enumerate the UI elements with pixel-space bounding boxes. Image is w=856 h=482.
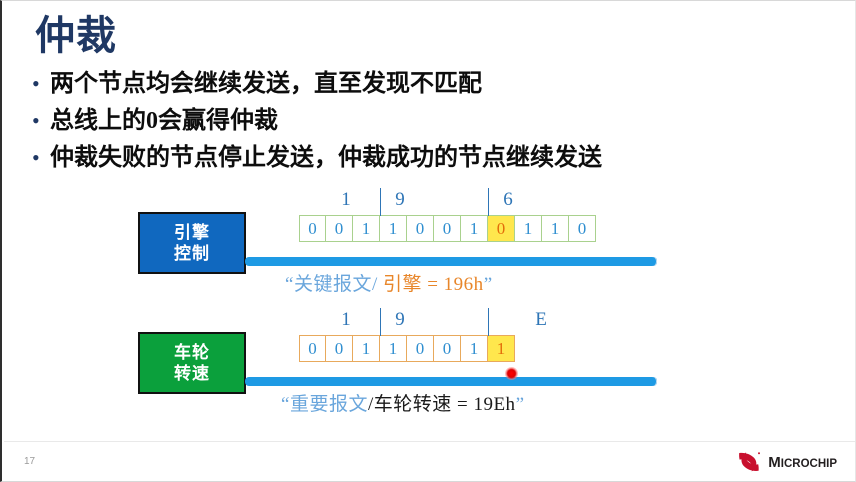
list-item: • 总线上的0会赢得仲裁 [32, 106, 822, 137]
slide-canvas: 仲裁 • 两个节点均会继续发送，直至发现不匹配 • 总线上的0会赢得仲裁 • 仲… [0, 0, 856, 482]
node-label-line2: 控制 [174, 243, 210, 264]
bullet-dot-icon: • [32, 69, 50, 99]
caption-open-quote: “ [281, 394, 290, 415]
nibble-separator-engine-2 [488, 188, 489, 216]
engine-bit-3: 1 [380, 215, 407, 242]
wheel-bit-6: 1 [461, 335, 488, 362]
caption-close-quote: ” [484, 274, 493, 295]
node-label-line1: 引擎 [174, 222, 210, 243]
bit-sequence-wheel-speed: 00110011 [299, 335, 515, 362]
engine-bit-2: 1 [353, 215, 380, 242]
caption-accent-part: /车轮转速 = 19Eh [368, 394, 516, 415]
bus-line-wheel-speed [245, 377, 657, 386]
node-box-engine: 引擎 控制 [138, 212, 246, 274]
nibble-separator-wheel-1 [380, 308, 381, 336]
bullet-text: 两个节点均会继续发送，直至发现不匹配 [50, 69, 482, 100]
wheel-bit-1: 0 [326, 335, 353, 362]
microchip-mark-icon [736, 449, 762, 475]
microchip-wordmark: MICROCHIP [768, 454, 837, 471]
nibble-separator-wheel-2 [488, 308, 489, 336]
list-item: • 仲裁失败的节点停止发送，仲裁成功的节点继续发送 [32, 143, 822, 174]
engine-bit-6: 1 [461, 215, 488, 242]
slide-number: 17 [24, 456, 35, 467]
node-label-line1: 车轮 [174, 342, 210, 363]
footer-divider [4, 441, 856, 442]
engine-bit-9: 1 [542, 215, 569, 242]
hex-label-engine-1: 9 [385, 189, 415, 211]
bus-line-engine [245, 257, 657, 266]
wheel-bit-0: 0 [299, 335, 326, 362]
hex-label-engine-2: 6 [493, 189, 523, 211]
bullet-dot-icon: • [32, 143, 50, 173]
hex-label-wheel-2: E [526, 309, 556, 331]
bullet-list: • 两个节点均会继续发送，直至发现不匹配 • 总线上的0会赢得仲裁 • 仲裁失败… [32, 69, 822, 180]
caption-engine: “关键报文/ 引擎 = 196h” [285, 269, 493, 296]
collision-marker-icon [505, 367, 518, 380]
bus-line-wheel-speed-endcap [652, 377, 657, 386]
caption-accent-part: 引擎 = 196h [383, 274, 484, 295]
bit-sequence-engine: 00110010110 [299, 215, 596, 242]
caption-blue-part: 重要报文 [290, 394, 368, 415]
list-item: • 两个节点均会继续发送，直至发现不匹配 [32, 69, 822, 100]
nibble-separator-engine-1 [380, 188, 381, 216]
engine-bit-5: 0 [434, 215, 461, 242]
bullet-dot-icon: • [32, 106, 50, 136]
engine-bit-8: 1 [515, 215, 542, 242]
engine-bit-4: 0 [407, 215, 434, 242]
hex-label-wheel-0: 1 [331, 309, 361, 331]
caption-open-quote: “ [285, 274, 294, 295]
bullet-text: 仲裁失败的节点停止发送，仲裁成功的节点继续发送 [50, 143, 602, 174]
caption-wheel-speed: “重要报文/车轮转速 = 19Eh” [281, 389, 525, 416]
page-title: 仲裁 [35, 15, 117, 57]
wheel-bit-3: 1 [380, 335, 407, 362]
caption-blue-part: 关键报文/ [294, 274, 383, 295]
wheel-bit-2: 1 [353, 335, 380, 362]
wheel-bit-4: 0 [407, 335, 434, 362]
engine-bit-7: 0 [488, 215, 515, 242]
bus-line-engine-endcap [652, 257, 657, 266]
hex-label-wheel-1: 9 [385, 309, 415, 331]
engine-bit-1: 0 [326, 215, 353, 242]
wheel-bit-7: 1 [488, 335, 515, 362]
bullet-text: 总线上的0会赢得仲裁 [50, 106, 278, 137]
engine-bit-0: 0 [299, 215, 326, 242]
caption-close-quote: ” [516, 394, 525, 415]
engine-bit-10: 0 [569, 215, 596, 242]
node-label-line2: 转速 [174, 363, 210, 384]
hex-label-engine-0: 1 [331, 189, 361, 211]
node-box-wheel-speed: 车轮 转速 [138, 332, 246, 394]
microchip-logo: MICROCHIP [736, 449, 837, 475]
wheel-bit-5: 0 [434, 335, 461, 362]
